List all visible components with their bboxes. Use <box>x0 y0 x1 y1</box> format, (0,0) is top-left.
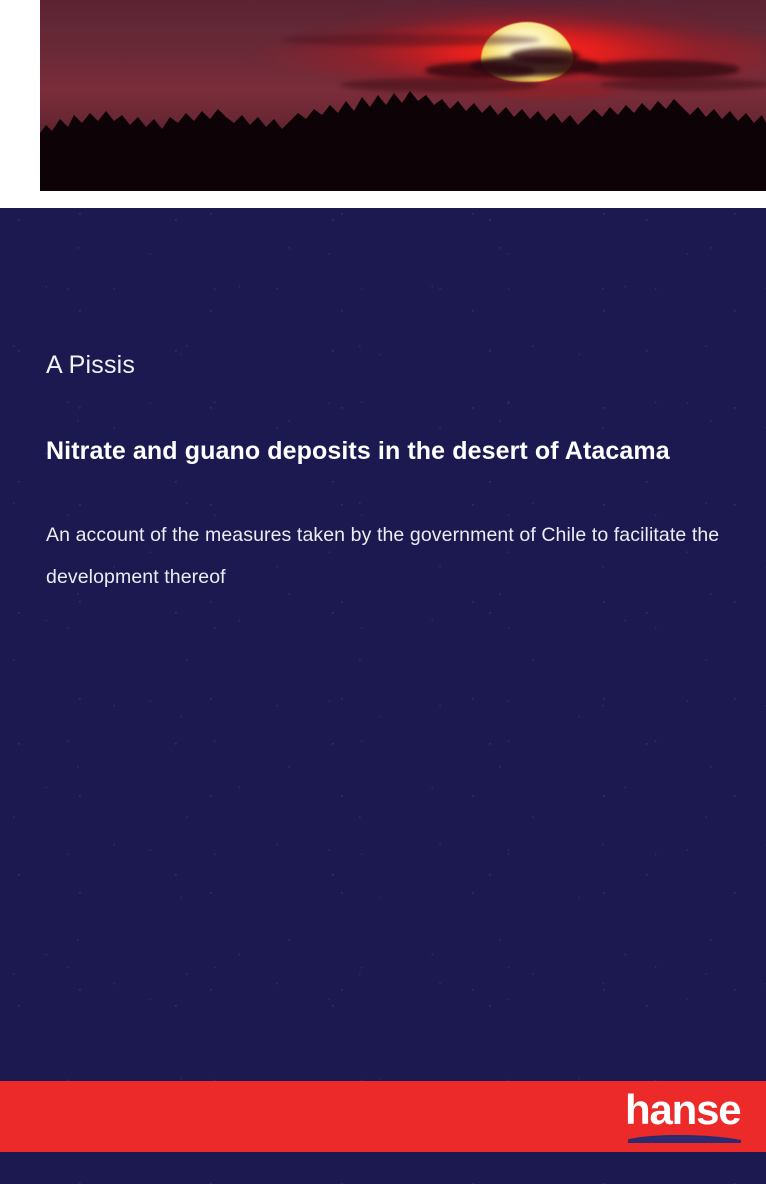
publisher-logo: hanse <box>625 1085 745 1149</box>
cloud-streak <box>280 34 540 46</box>
book-cover: A Pissis Nitrate and guano deposits in t… <box>0 0 766 1184</box>
treeline-silhouette <box>40 71 766 191</box>
publisher-logo-text: hanse <box>625 1087 740 1133</box>
cover-photo <box>40 0 766 191</box>
author-name: A Pissis <box>46 351 135 380</box>
logo-swoosh-icon <box>628 1134 741 1143</box>
book-title: Nitrate and guano deposits in the desert… <box>46 430 686 472</box>
book-subtitle: An account of the measures taken by the … <box>46 514 726 598</box>
